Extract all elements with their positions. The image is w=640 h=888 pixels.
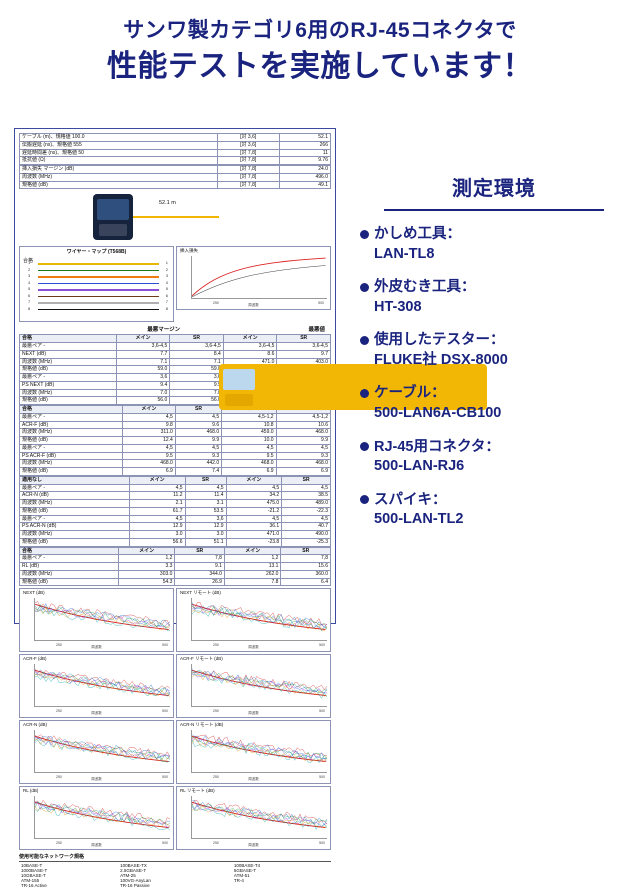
wire-pair-line [38,283,159,285]
table-cell: PS ACR-F (dB) [20,452,123,460]
table-cell: 最悪ペア - [20,413,123,421]
table-cell: 489.0 [282,500,331,508]
table-header-cell: メイン [224,547,281,555]
table-header-cell: SR [170,335,224,343]
environment-item-value: LAN-TL8 [360,245,628,265]
table-cell: 6.9 [276,468,330,476]
table-cell: 9.9 [276,437,330,445]
environment-item-line1: 外皮むき工具： [360,278,628,298]
headline-line-2: 性能テストを実施しています！ [0,48,640,86]
wire-number-right: 2 [166,267,168,272]
table-cell: 311.0 [122,429,175,437]
table-cell: 6.9 [122,468,175,476]
table-cell: 周波数 (MHz) [20,500,130,508]
table-row: ACR-F (dB)9.89.610.810.6 [20,421,331,429]
environment-item-label: スパイキ： [374,492,447,508]
table-cell: 4,5 [276,444,330,452]
table-row: 最悪ペア -1,27,81,27,8 [20,555,331,563]
table-cell: 規格値 (dB) [20,181,218,189]
table-cell: 規格値 (dB) [20,397,117,405]
wiremap-insertion-row: ワイヤー・マップ (T568B) 合格 1122334455667788 挿入損… [19,246,331,322]
table-cell: [対 7,8] [217,166,279,174]
environment-item-value: HT-308 [360,298,628,318]
table-cell: 4,5 [122,444,175,452]
chart-plot [34,664,170,707]
margin-title-right: 最悪値 [308,325,325,333]
chart-plot [191,796,327,839]
table-cell: 3,6 [116,374,170,382]
table-row: 規格値 (dB)54.326.97.86.4 [20,578,331,586]
table-header-cell: SR [175,406,221,414]
table-row: ACR-N (dB)11.211.434.238.5 [20,492,331,500]
table-cell: 4,5 [222,444,276,452]
table-cell: 抵抗値 (Ω) [20,157,218,165]
table-cell: 4,5 [175,444,221,452]
table-cell: 4,5 [226,484,282,492]
table-cell: 4,5 [282,515,331,523]
table-cell: 12.4 [122,437,175,445]
bullet-icon [360,283,369,292]
environment-item: スパイキ：500-LAN-TL2 [360,491,628,530]
report-inner: ケーブル (m)、規格値 100.0[対 3,6]52.1伝搬遅延 (ns)、規… [19,133,331,619]
environment-item-line1: ケーブル： [360,384,628,404]
table-header-cell: メイン [223,335,277,343]
chart-plot [34,796,170,839]
table-cell: 51.1 [185,538,226,546]
wire-number-left: 1 [28,260,30,265]
table-cell: 52.1 [279,134,330,142]
network-standards-title: 使用可能なネットワーク規格 [19,853,331,862]
table-cell: 伝搬遅延 (ns)、規格値 555 [20,141,218,149]
table-cell: 1,2 [224,555,281,563]
chart-insertion-loss-plot [191,256,327,299]
table-cell: ACR-N (dB) [20,492,130,500]
table-cell: 344.0 [175,570,224,578]
table-row: 伝搬遅延 (ns)、規格値 555[対 3,6]266 [20,141,331,149]
table-cell: 9.1 [175,563,224,571]
bullet-icon [360,230,369,239]
wire-number-left: 7 [28,299,30,304]
chart-grid: NEXT (dB)250500周波数NEXT リモート (dB)250500周波… [19,588,331,850]
table-cell: 7.4 [175,468,221,476]
table-cell: [対 7,8] [217,157,279,165]
table-cell: 468.0 [222,460,276,468]
wire-number-right: 6 [166,293,168,298]
table-cell: 9.9 [175,437,221,445]
table-cell: [対 7,8] [217,173,279,181]
table-cell: 6.9 [222,468,276,476]
table-cell: TR-16 Active [19,883,118,888]
environment-item-label: ケーブル： [374,385,446,401]
bullet-icon [360,336,369,345]
table-cell: 475.0 [226,500,282,508]
table-header-cell: SR [175,547,224,555]
margin-title-left: 最悪マージン [147,327,180,333]
environment-item: 外皮むき工具：HT-308 [360,278,628,317]
measurement-environment-title: 測定環境 [360,172,628,201]
table-header-cell: メイン [226,476,282,484]
x-axis-label: 周波数 [177,777,330,782]
chart-insertion-loss: 挿入損失 250 500 周波数 [176,246,331,310]
table-cell: 56.6 [129,538,185,546]
table-cell: 4,5 [226,515,282,523]
table-cell: 10.8 [222,421,276,429]
table-cell: 9.76 [279,157,330,165]
table-cell: 59.0 [116,366,170,374]
table-cell: 53.5 [185,507,226,515]
table-cell: 4,5 [185,484,226,492]
wire-map: ワイヤー・マップ (T568B) 合格 1122334455667788 [19,246,174,322]
table-row: PS ACR-N (dB)12.912.936.140.7 [20,523,331,531]
wire-number-left: 6 [28,293,30,298]
table-row: 最悪ペア -3,6-4,53,6-4,53,6-4,53,6-4,5 [20,343,331,351]
table-row: ケーブル (m)、規格値 100.0[対 3,6]52.1 [20,134,331,142]
wire-pair-line [38,289,159,291]
table-cell: 遅延時間差 (ns)、規格値 50 [20,149,218,157]
chart-plot [191,598,327,641]
table-cell: 15.6 [281,563,331,571]
test-report-panel: ケーブル (m)、規格値 100.0[対 3,6]52.1伝搬遅延 (ns)、規… [14,128,336,624]
table-cell: 459.0 [222,429,276,437]
chart-8: RL リモート (dB)250500周波数 [176,786,331,850]
table-cell: TR-16 Passive [118,883,232,888]
wire-pair-line [38,309,159,311]
table-cell: 262.0 [224,570,281,578]
wire-number-right: 8 [166,306,168,311]
table-cell: 4,5 [129,515,185,523]
table-cell: 挿入損失 マージン (dB) [20,166,218,174]
table-row: 遅延時間差 (ns)、規格値 50[対 7,8]11 [20,149,331,157]
table-cell: 2.1 [129,500,185,508]
headline-line-1: サンワ製カテゴリ6用のRJ-45コネクタで [0,18,640,44]
table-cell: 56.0 [170,397,224,405]
table-cell: 468.0 [276,460,330,468]
environment-item-value: 500-LAN-TL2 [360,510,628,530]
table-cell: 12.9 [185,523,226,531]
table-cell: [対 3,6] [217,141,279,149]
table-cell: 468.0 [175,429,221,437]
table-cell: 3.0 [129,531,185,539]
table-header-cell: SR [282,476,331,484]
x-axis-label: 周波数 [20,777,173,782]
table-cell: 9.8 [122,421,175,429]
table-header-cell: メイン [118,547,175,555]
table-cell: 4,5 [282,484,331,492]
table-cell: 7,8 [175,555,224,563]
table-row: PS ACR-F (dB)9.59.39.59.3 [20,452,331,460]
table-cell: 11 [279,149,330,157]
table-cell: 最悪ペア - [20,444,123,452]
environment-item-line1: スパイキ： [360,491,628,511]
chart-title: NEXT (dB) [23,590,45,595]
table-cell: 9.4 [116,381,170,389]
table-cell: 34.2 [226,492,282,500]
table-row: 規格値 (dB)56.651.1-23.8-25.3 [20,538,331,546]
headline: サンワ製カテゴリ6用のRJ-45コネクタで 性能テストを実施しています！ [0,18,640,86]
table-cell: 7.7 [116,350,170,358]
table-cell: -25.3 [282,538,331,546]
table-header-cell: メイン [129,476,185,484]
table-cell: 4,5 [129,484,185,492]
wire-number-left: 3 [28,273,30,278]
table-cell: 最悪ペア - [20,555,119,563]
table-cell: 周波数 (MHz) [20,570,119,578]
tester-main-icon [93,194,133,240]
table-row: 周波数 (MHz)2.13.1475.0489.0 [20,500,331,508]
chart-7: RL (dB)250500周波数 [19,786,174,850]
table-row: 最悪ペア -4,54,54,54,5 [20,484,331,492]
table-cell: 471.0 [226,531,282,539]
table-row: 挿入損失 マージン (dB)[対 7,8]24.0 [20,166,331,174]
table-cell: 442.0 [175,460,221,468]
table-header-cell: SR [277,335,331,343]
chart-title: NEXT リモート (dB) [180,590,221,596]
chart-1: NEXT (dB)250500周波数 [19,588,174,652]
table-cell: -21.2 [226,507,282,515]
table-cell: 最悪ペア - [20,484,130,492]
result-cell: 合格 [20,547,119,555]
table-header-row: 合格メインSRメインSR [20,547,331,555]
table-row: 規格値 (dB)12.49.910.09.9 [20,437,331,445]
table-cell: 8.6 [223,350,277,358]
table-row: RL (dB)3.39.113.115.6 [20,563,331,571]
wire-pair-line [38,296,159,298]
table-cell: 468.0 [122,460,175,468]
wire-number-left: 4 [28,280,30,285]
summary-table-top: ケーブル (m)、規格値 100.0[対 3,6]52.1伝搬遅延 (ns)、規… [19,133,331,189]
environment-item-label: RJ-45用コネクタ： [374,439,500,455]
chart-plot [34,730,170,773]
table-row: 規格値 (dB)[対 7,8]49.1 [20,181,331,189]
table-cell: 周波数 (MHz) [20,429,123,437]
table-cell: 9.6 [175,421,221,429]
chart-title: RL (dB) [23,788,38,793]
x-axis-label: 周波数 [20,843,173,848]
table-cell: 9.9 [170,381,224,389]
table-cell: 9.3 [276,452,330,460]
table-cell: 36.1 [226,523,282,531]
table-row: 周波数 (MHz)303.0344.0262.0360.0 [20,570,331,578]
table-row: 周波数 (MHz)468.0442.0468.0468.0 [20,460,331,468]
table-cell: 360.0 [281,570,331,578]
table-row: 最悪ペア -4,53,64,54,5 [20,515,331,523]
wire-number-left: 2 [28,267,30,272]
table-cell: 11.2 [129,492,185,500]
table-cell: 3,6-4,5 [116,343,170,351]
wire-number-left: 5 [28,286,30,291]
table-cell: 10.0 [222,437,276,445]
table-cell: 4,5 [122,413,175,421]
table-cell: RL (dB) [20,563,119,571]
table-cell: 3,6-4,5 [170,343,224,351]
network-standards: 使用可能なネットワーク規格 10BASE-T100BASE-TX100BASE-… [19,853,331,888]
wire-number-right: 4 [166,280,168,285]
bullet-icon [360,442,369,451]
table-row: 規格値 (dB)6.97.46.96.9 [20,468,331,476]
x-axis-label: 周波数 [177,843,330,848]
table-cell: [対 7,8] [217,149,279,157]
xlabel-insertion: 周波数 [177,303,330,308]
measurement-environment-panel: 測定環境 かしめ工具：LAN-TL8外皮むき工具：HT-308使用したテスター：… [360,172,628,544]
table-cell: 規格値 (dB) [20,507,130,515]
result-cell: 合格 [20,335,117,343]
environment-item-value: FLUKE社 DSX-8000 [360,351,628,371]
environment-item-label: 使用したテスター： [374,332,505,348]
wire-number-right: 7 [166,299,168,304]
wire-number-right: 3 [166,273,168,278]
table-cell: 7.8 [224,578,281,586]
wire-pair-line [38,302,159,304]
table-row: TR-16 ActiveTR-16 Passive [19,883,331,888]
result-cell: 適用なし [20,476,130,484]
cable-diagram: 52.1 m [19,192,331,244]
table-cell: 最悪ペア - [20,343,117,351]
table-row: 抵抗値 (Ω)[対 7,8]9.76 [20,157,331,165]
chart-plot [191,664,327,707]
bullet-icon [360,389,369,398]
table-cell: -23.8 [226,538,282,546]
chart-title: ACR-F (dB) [23,656,47,661]
table-header-row: 合格メインSRメインSR [20,335,331,343]
table-cell: 9.7 [277,350,331,358]
table-row: 周波数 (MHz)311.0468.0459.0468.0 [20,429,331,437]
table-cell: 11.4 [185,492,226,500]
wire-map-title: ワイヤー・マップ (T568B) [20,247,173,256]
x-axis-label: 周波数 [177,645,330,650]
table-cell: 7.1 [116,358,170,366]
table-cell: 26.9 [175,578,224,586]
wire-number-right: 5 [166,286,168,291]
table-cell: 周波数 (MHz) [20,460,123,468]
table-header-row: 適用なしメインSRメインSR [20,476,331,484]
table-cell: 9.5 [222,452,276,460]
table-cell: 61.7 [129,507,185,515]
chart-4: ACR-F リモート (dB)250500周波数 [176,654,331,718]
environment-item-line1: かしめ工具： [360,225,628,245]
table-cell: 24.0 [279,166,330,174]
table-cell: 38.5 [282,492,331,500]
table-cell: 7.0 [116,389,170,397]
table-cell: 規格値 (dB) [20,366,117,374]
table-row: 周波数 (MHz)[対 7,8]496.0 [20,173,331,181]
table-cell: 13.1 [224,563,281,571]
margin-section-title: 最悪マージン 最悪値 [19,325,331,333]
table-cell: 7.1 [170,358,224,366]
table-cell: 7.0 [170,389,224,397]
table-cell: PS NEXT (dB) [20,381,117,389]
table-cell: 3.0 [185,531,226,539]
environment-item-value: 500-LAN-RJ6 [360,457,628,477]
chart-insertion-loss-title: 挿入損失 [180,248,198,254]
table-cell: [対 7,8] [217,181,279,189]
environment-item-label: 外皮むき工具： [374,279,476,295]
table-header-cell: メイン [116,335,170,343]
table-row: 規格値 (dB)61.753.5-21.2-22.3 [20,507,331,515]
chart-2: NEXT リモート (dB)250500周波数 [176,588,331,652]
table-cell: 40.7 [282,523,331,531]
table-row: 周波数 (MHz)3.03.0471.0490.0 [20,531,331,539]
x-axis-label: 周波数 [177,711,330,716]
table-row: NEXT (dB)7.78.48.69.7 [20,350,331,358]
table-cell: 3,6-4,5 [223,343,277,351]
table-cell: 3.1 [185,500,226,508]
table-cell: 468.0 [276,429,330,437]
table-cell: 周波数 (MHz) [20,358,117,366]
chart-title: ACR-N (dB) [23,722,47,727]
chart-6: ACR-N リモート (dB)250500周波数 [176,720,331,784]
chart-title: ACR-F リモート (dB) [180,656,223,662]
table-cell: 4,5 [175,413,221,421]
table-cell: 規格値 (dB) [20,468,123,476]
table-cell: 最悪ペア - [20,515,130,523]
table-cell: ACR-F (dB) [20,421,123,429]
margin-table: 合格メインSRメインSR最悪ペア -4,54,54,5-1,24,5-1,2AC… [19,405,331,476]
table-cell: 3.3 [118,563,175,571]
wire-number-left: 8 [28,306,30,311]
table-cell: 6.4 [281,578,331,586]
environment-item: 使用したテスター：FLUKE社 DSX-8000 [360,331,628,370]
table-cell: [対 3,6] [217,134,279,142]
wire-pair-line [38,270,159,272]
cable-line [133,216,219,218]
environment-item-list: かしめ工具：LAN-TL8外皮むき工具：HT-308使用したテスター：FLUKE… [360,225,628,530]
wire-pair-line [38,263,159,265]
table-cell: -22.3 [282,507,331,515]
table-cell: 59.0 [170,366,224,374]
table-cell: 496.0 [279,173,330,181]
table-cell: 3,6-4,5 [277,343,331,351]
table-cell: 規格値 (dB) [20,578,119,586]
environment-item: ケーブル：500-LAN6A-CB100 [360,384,628,423]
chart-title: RL リモート (dB) [180,788,215,794]
margin-table: 適用なしメインSRメインSR最悪ペア -4,54,54,54,5ACR-N (d… [19,476,331,547]
table-cell: 周波数 (MHz) [20,173,218,181]
table-cell: 4,5-1,2 [222,413,276,421]
table-header-cell: メイン [122,406,175,414]
environment-item-line1: RJ-45用コネクタ： [360,438,628,458]
network-standards-table: 10BASE-T100BASE-TX100BASE-T41000BASE-T2.… [19,863,331,888]
table-row: 最悪ペア -4,54,54,5-1,24,5-1,2 [20,413,331,421]
chart-plot [34,598,170,641]
table-cell: 9.5 [122,452,175,460]
table-cell: 56.0 [116,397,170,405]
table-cell: 49.1 [279,181,330,189]
table-cell: 490.0 [282,531,331,539]
environment-item-value: 500-LAN6A-CB100 [360,404,628,424]
table-cell: 周波数 (MHz) [20,389,117,397]
table-cell: ケーブル (m)、規格値 100.0 [20,134,218,142]
table-cell: 7,8 [281,555,331,563]
table-cell: 3,6 [170,374,224,382]
margin-table: 合格メインSRメインSR最悪ペア -1,27,81,27,8RL (dB)3.3… [19,547,331,587]
table-cell: 8.4 [170,350,224,358]
chart-plot [191,730,327,773]
environment-item: RJ-45用コネクタ：500-LAN-RJ6 [360,438,628,477]
table-header-cell: SR [281,547,331,555]
x-axis-label: 周波数 [20,645,173,650]
table-cell: 規格値 (dB) [20,437,123,445]
page-root: サンワ製カテゴリ6用のRJ-45コネクタで 性能テストを実施しています！ ケーブ… [0,0,640,640]
wire-pair-line [38,276,159,278]
table-row: 最悪ペア -4,54,54,54,5 [20,444,331,452]
table-cell: 4,5-1,2 [276,413,330,421]
table-cell: 303.0 [118,570,175,578]
title-divider [384,209,604,211]
table-cell: 266 [279,141,330,149]
table-cell: NEXT (dB) [20,350,117,358]
cable-length-label: 52.1 m [159,200,176,206]
wire-number-right: 1 [166,260,168,265]
